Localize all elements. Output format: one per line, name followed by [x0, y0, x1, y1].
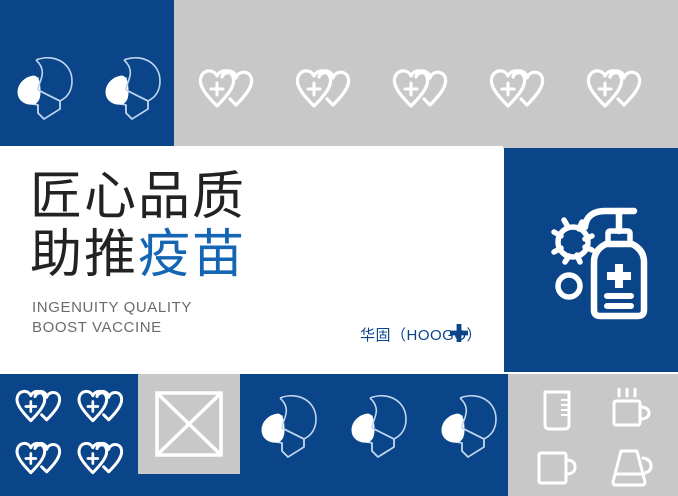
masked-head-icon	[102, 52, 172, 128]
right-blue-panel	[504, 148, 678, 372]
hand-sanitizer-bottle-icon	[522, 190, 662, 330]
masked-head-icon	[14, 52, 84, 128]
subtitle-line-1: INGENUITY QUALITY	[32, 298, 192, 318]
subtitle-group: INGENUITY QUALITY BOOST VACCINE	[32, 298, 192, 338]
steaming-mug-icon	[608, 387, 654, 433]
double-heart-plus-icon	[580, 66, 652, 118]
double-heart-plus-icon	[72, 438, 132, 488]
top-heart-icon-row	[192, 66, 652, 118]
headline-line-2-prefix: 助推	[30, 226, 138, 284]
double-heart-plus-icon	[72, 386, 132, 436]
double-heart-plus-icon	[386, 66, 458, 118]
masked-head-icon	[258, 390, 328, 466]
vessel-icon-grid	[521, 382, 667, 496]
broken-image-placeholder-icon	[154, 390, 224, 458]
top-mask-icon-row	[14, 52, 172, 128]
main-content-panel: 匠心品质 助推疫苗 INGENUITY QUALITY BOOST VACCIN…	[0, 146, 503, 372]
beaker-icon	[537, 387, 577, 433]
double-heart-plus-icon	[10, 438, 70, 488]
double-heart-plus-icon	[10, 386, 70, 436]
masked-head-icon	[438, 390, 508, 466]
headline-line-1: 匠心品质	[30, 168, 246, 226]
double-heart-plus-icon	[289, 66, 361, 118]
poster-canvas: 匠心品质 助推疫苗 INGENUITY QUALITY BOOST VACCIN…	[0, 0, 678, 496]
headline-line-2: 助推疫苗	[30, 226, 246, 284]
kettle-icon	[607, 446, 655, 490]
circle-icon	[558, 275, 580, 297]
headline-line-2-accent: 疫苗	[138, 226, 246, 284]
headline-group: 匠心品质 助推疫苗	[30, 168, 246, 284]
bottom-heart-icon-grid	[10, 386, 132, 488]
mug-icon	[534, 447, 580, 489]
double-heart-plus-icon	[483, 66, 555, 118]
double-heart-plus-icon	[192, 66, 264, 118]
plus-icon	[448, 322, 470, 344]
bottom-mask-icon-row	[258, 390, 508, 466]
subtitle-line-2: BOOST VACCINE	[32, 318, 192, 338]
masked-head-icon	[348, 390, 418, 466]
